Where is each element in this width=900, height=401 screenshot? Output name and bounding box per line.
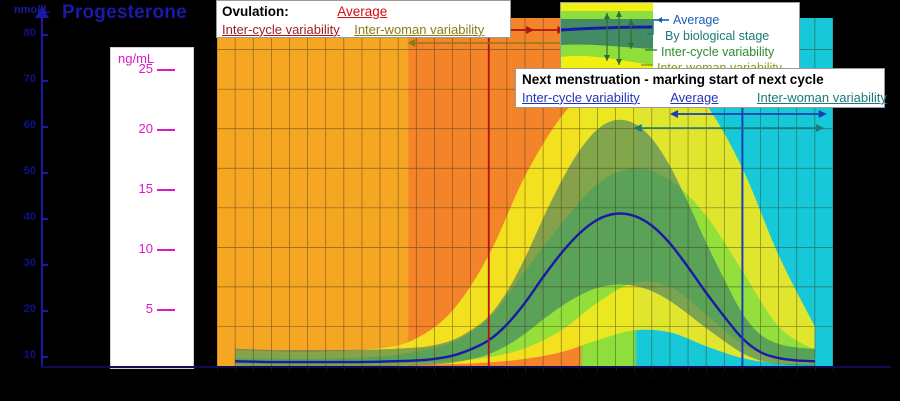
x-axis-tick <box>706 366 707 371</box>
menstruation-inter-woman-label: Inter-woman variability <box>757 90 887 105</box>
x-axis-tick-label: 12 <box>448 372 457 381</box>
x-axis-tick <box>579 366 580 371</box>
x-axis-tick <box>398 366 399 371</box>
x-axis-tick-label: 20 <box>593 372 602 381</box>
x-axis-tick <box>308 366 309 371</box>
ngml-axis-tick <box>157 189 175 191</box>
x-axis-tick-label: 21 <box>611 372 620 381</box>
legend-swatch-graphic <box>561 3 653 75</box>
left-axis-tick <box>41 126 48 128</box>
x-axis-tick <box>507 366 508 371</box>
x-axis-tick <box>543 366 544 371</box>
x-axis-tick-label: -1 <box>213 372 220 381</box>
x-axis-tick <box>289 366 290 371</box>
left-axis-tick <box>41 172 48 174</box>
left-axis-line <box>41 14 43 366</box>
x-axis-tick-label: 2 <box>269 372 273 381</box>
x-axis-tick <box>326 366 327 371</box>
left-axis-tick-label: 70 <box>2 73 36 85</box>
x-axis-tick-label: 31 <box>792 372 801 381</box>
x-axis-tick-label: 17 <box>539 372 548 381</box>
x-axis-tick-label: 32 <box>810 372 819 381</box>
x-axis-tick-label: 28 <box>738 372 747 381</box>
chart-title: Progesterone <box>62 2 187 24</box>
x-axis-tick <box>416 366 417 371</box>
x-axis-tick <box>525 366 526 371</box>
x-axis-tick-label: 23 <box>647 372 656 381</box>
x-axis-tick-label: 8 <box>378 372 382 381</box>
left-axis-tick <box>41 264 48 266</box>
x-axis-tick-label: 18 <box>557 372 566 381</box>
left-axis-tick <box>41 34 48 36</box>
x-axis-tick-label: 30 <box>774 372 783 381</box>
ovulation-inter-woman-label: Inter-woman variability <box>354 22 484 37</box>
legend-label-inter-cycle: Inter-cycle variability <box>661 45 774 59</box>
x-axis-tick-label: 3 <box>287 372 291 381</box>
ngml-axis-tick-label: 15 <box>113 181 153 196</box>
x-axis-tick-label: 26 <box>702 372 711 381</box>
left-axis-tick <box>41 356 48 358</box>
x-axis-tick-label: 1 <box>251 372 255 381</box>
x-axis-tick <box>652 366 653 371</box>
x-axis-tick <box>742 366 743 371</box>
x-axis-tick-label: 25 <box>684 372 693 381</box>
x-axis-tick-label: 11 <box>430 372 438 381</box>
x-axis-tick-label: 14 <box>484 372 493 381</box>
x-axis-tick-label: 5 <box>323 372 327 381</box>
x-axis-tick <box>616 366 617 371</box>
x-axis-tick-label: 10 <box>412 372 421 381</box>
ngml-axis-tick-label: 5 <box>113 301 153 316</box>
ngml-axis-panel <box>110 47 194 369</box>
x-axis-tick-label: 4 <box>305 372 309 381</box>
ngml-axis-tick <box>157 129 175 131</box>
next-menstruation-title: Next menstruation <box>522 72 641 87</box>
x-axis-tick <box>271 366 272 371</box>
legend-box: Average By biological stage Inter-cycle … <box>560 2 800 74</box>
ovulation-callout-title: Ovulation: <box>222 4 289 19</box>
x-axis-tick-label: 22 <box>629 372 638 381</box>
legend-label-average: Average <box>673 13 719 27</box>
ovulation-callout: Ovulation: Average Inter-cycle variabili… <box>216 0 511 38</box>
left-axis-tick-label: 60 <box>2 119 36 131</box>
x-axis-tick <box>779 366 780 371</box>
ovulation-average-label: Average <box>337 4 387 19</box>
x-axis-tick-label: 16 <box>521 372 530 381</box>
progesterone-chart: nmol/L Progesterone 8070605040302010 ng/… <box>0 0 900 401</box>
x-axis-tick <box>561 366 562 371</box>
x-axis-tick <box>362 366 363 371</box>
x-axis-tick-label: 29 <box>756 372 765 381</box>
left-axis-tick-label: 10 <box>2 349 36 361</box>
ovulation-inter-cycle-label: Inter-cycle variability <box>222 22 340 37</box>
x-axis-tick <box>761 366 762 371</box>
x-axis-tick <box>688 366 689 371</box>
x-axis-tick-label: 0 <box>233 372 237 381</box>
ngml-axis-tick-label: 10 <box>113 241 153 256</box>
x-axis-tick <box>253 366 254 371</box>
next-menstruation-callout: Next menstruation - marking start of nex… <box>515 68 885 108</box>
x-axis-tick-label: 33 <box>829 372 838 381</box>
left-axis-tick <box>41 310 48 312</box>
menstruation-average-label: Average <box>670 90 718 105</box>
left-axis-tick-label: 40 <box>2 211 36 223</box>
ngml-axis-tick-label: 25 <box>113 61 153 76</box>
x-axis-tick <box>380 366 381 371</box>
x-axis-tick <box>471 366 472 371</box>
x-axis-tick <box>217 366 218 371</box>
x-axis-tick <box>797 366 798 371</box>
x-axis-tick <box>489 366 490 371</box>
menstruation-inter-cycle-label: Inter-cycle variability <box>522 90 640 105</box>
x-axis-tick <box>344 366 345 371</box>
x-axis-tick <box>453 366 454 371</box>
left-axis-tick-label: 20 <box>2 303 36 315</box>
x-axis-tick <box>815 366 816 371</box>
ngml-axis-tick-label: 20 <box>113 121 153 136</box>
x-axis-tick-label: 27 <box>720 372 729 381</box>
x-axis-tick-label: 13 <box>466 372 475 381</box>
x-axis-tick <box>724 366 725 371</box>
x-axis-tick <box>670 366 671 371</box>
x-axis-tick-label: 19 <box>575 372 584 381</box>
legend-label-by-stage: By biological stage <box>665 29 769 43</box>
ngml-axis-tick <box>157 309 175 311</box>
x-axis-tick <box>434 366 435 371</box>
left-axis-tick-label: 50 <box>2 165 36 177</box>
x-axis-tick-label: 24 <box>665 372 674 381</box>
x-axis-tick-label: 7 <box>360 372 364 381</box>
ngml-axis-tick <box>157 69 175 71</box>
x-axis-tick-label: 15 <box>502 372 511 381</box>
x-axis-tick-label: 6 <box>342 372 346 381</box>
left-axis-tick-label: 80 <box>2 27 36 39</box>
left-axis-tick <box>41 80 48 82</box>
left-axis-tick-label: 30 <box>2 257 36 269</box>
x-axis-tick <box>597 366 598 371</box>
x-axis-tick <box>634 366 635 371</box>
left-axis-tick <box>41 218 48 220</box>
x-axis-tick-label: 9 <box>396 372 400 381</box>
x-axis-tick <box>833 366 834 371</box>
ngml-axis-tick <box>157 249 175 251</box>
next-menstruation-subtitle: - marking start of next cycle <box>641 72 824 87</box>
x-axis-line <box>41 366 891 368</box>
x-axis-tick <box>235 366 236 371</box>
